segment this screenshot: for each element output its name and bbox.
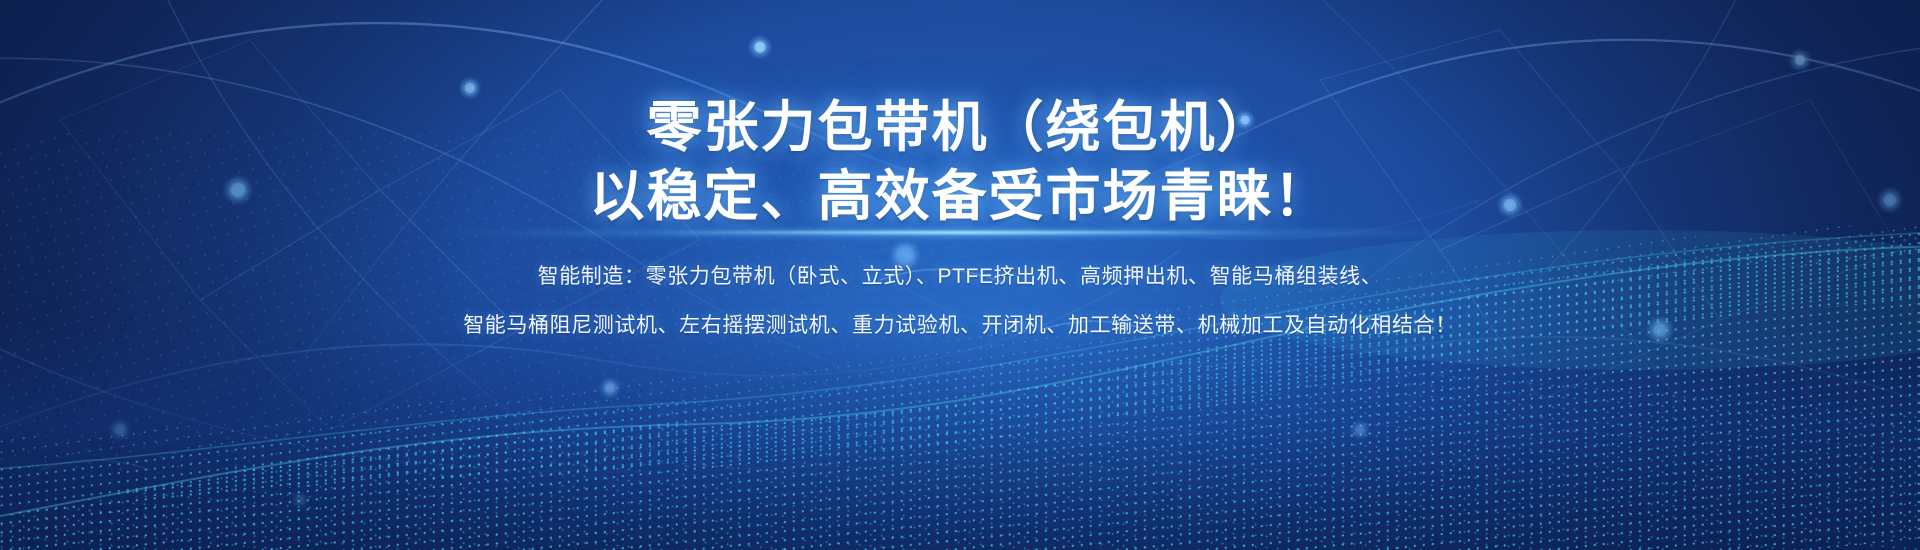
banner-title-line-2: 以稳定、高效备受市场青睐！ — [0, 165, 1920, 228]
banner-subtitle-line-1: 智能制造：零张力包带机（卧式、立式）、PTFE挤出机、高频押出机、智能马桶组装线… — [0, 263, 1920, 291]
banner-subtitle-line-2: 智能马桶阻尼测试机、左右摇摆测试机、重力试验机、开闭机、加工输送带、机械加工及自… — [0, 312, 1920, 340]
bottom-haze-overlay — [0, 320, 1920, 550]
banner-content: 零张力包带机（绕包机） 以稳定、高效备受市场青睐！ 智能制造：零张力包带机（卧式… — [0, 96, 1920, 340]
hero-banner: 零张力包带机（绕包机） 以稳定、高效备受市场青睐！ 智能制造：零张力包带机（卧式… — [0, 0, 1920, 550]
banner-title-line-1: 零张力包带机（绕包机） — [0, 96, 1920, 159]
